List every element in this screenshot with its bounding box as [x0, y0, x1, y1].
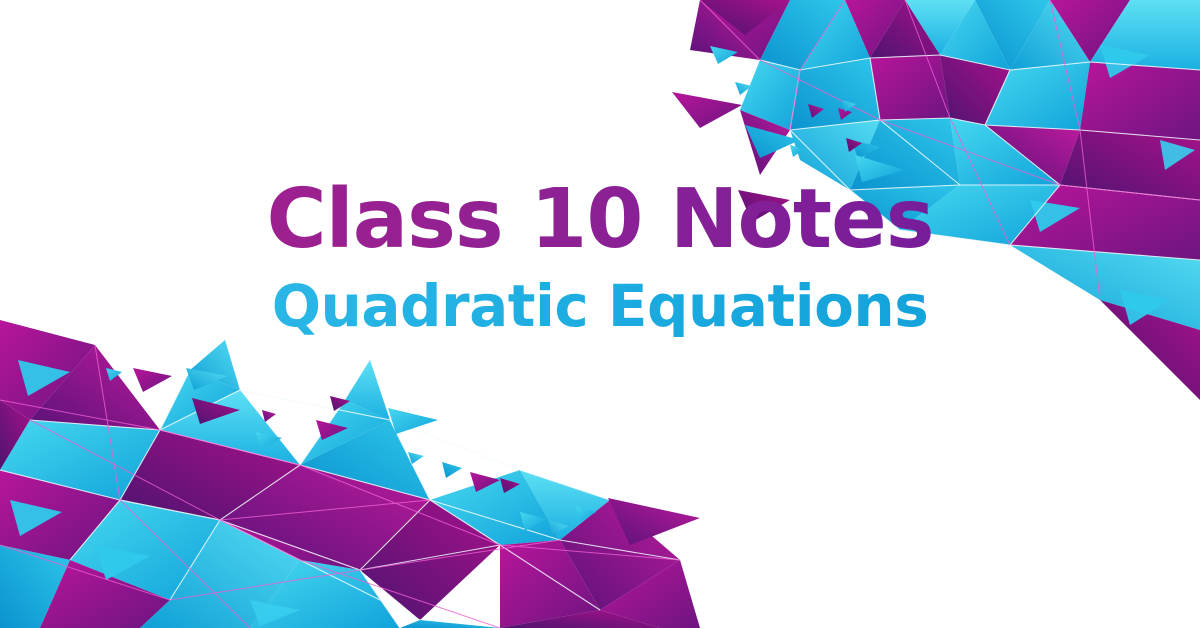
banner-canvas: Class 10 Notes Quadratic Equations [0, 0, 1200, 628]
page-subtitle: Quadratic Equations [0, 276, 1200, 337]
low-poly-bottom-left-group [0, 320, 700, 628]
page-title: Class 10 Notes [0, 178, 1200, 262]
banner-text-block: Class 10 Notes Quadratic Equations [0, 178, 1200, 337]
